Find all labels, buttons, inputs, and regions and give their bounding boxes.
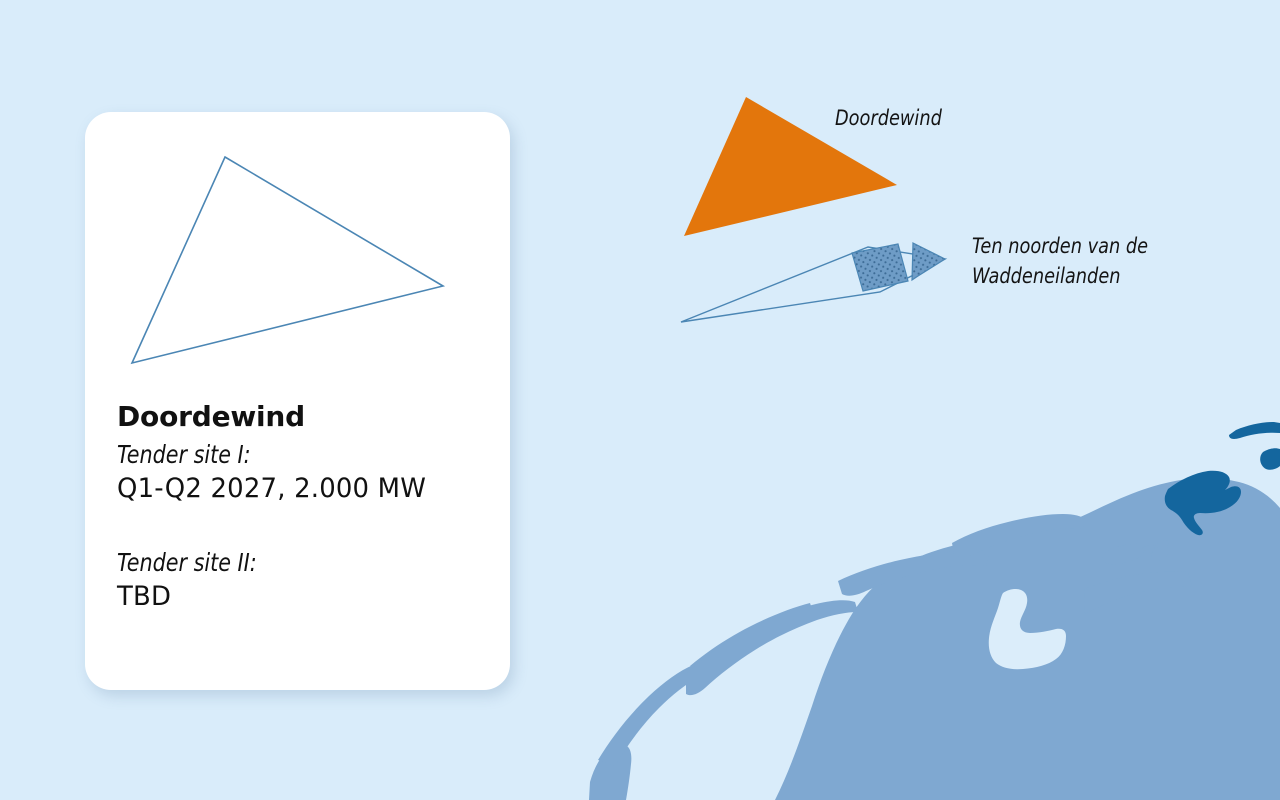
tender-site-one-label: Tender site I: [117, 439, 467, 471]
tender-site-two-value: TBD [117, 579, 482, 615]
tender-site-two-label: Tender site II: [117, 547, 467, 579]
card-title: Doordewind [117, 400, 497, 434]
wind-zone-triangle-outline-icon [85, 112, 510, 397]
info-card-doordewind: Doordewind Tender site I: Q1-Q2 2027, 2.… [85, 112, 510, 690]
tender-site-one-value: Q1-Q2 2027, 2.000 MW [117, 471, 482, 507]
map-label-ten-noorden-van-de-waddeneilanden: Ten noorden van de Waddeneilanden [972, 231, 1148, 291]
map-label-doordewind: Doordewind [835, 103, 942, 133]
info-card-text: Doordewind Tender site I: Q1-Q2 2027, 2.… [117, 400, 497, 615]
card-spacer [117, 507, 497, 547]
map-infographic: Doordewind Ten noorden van de Waddeneila… [0, 0, 1280, 800]
